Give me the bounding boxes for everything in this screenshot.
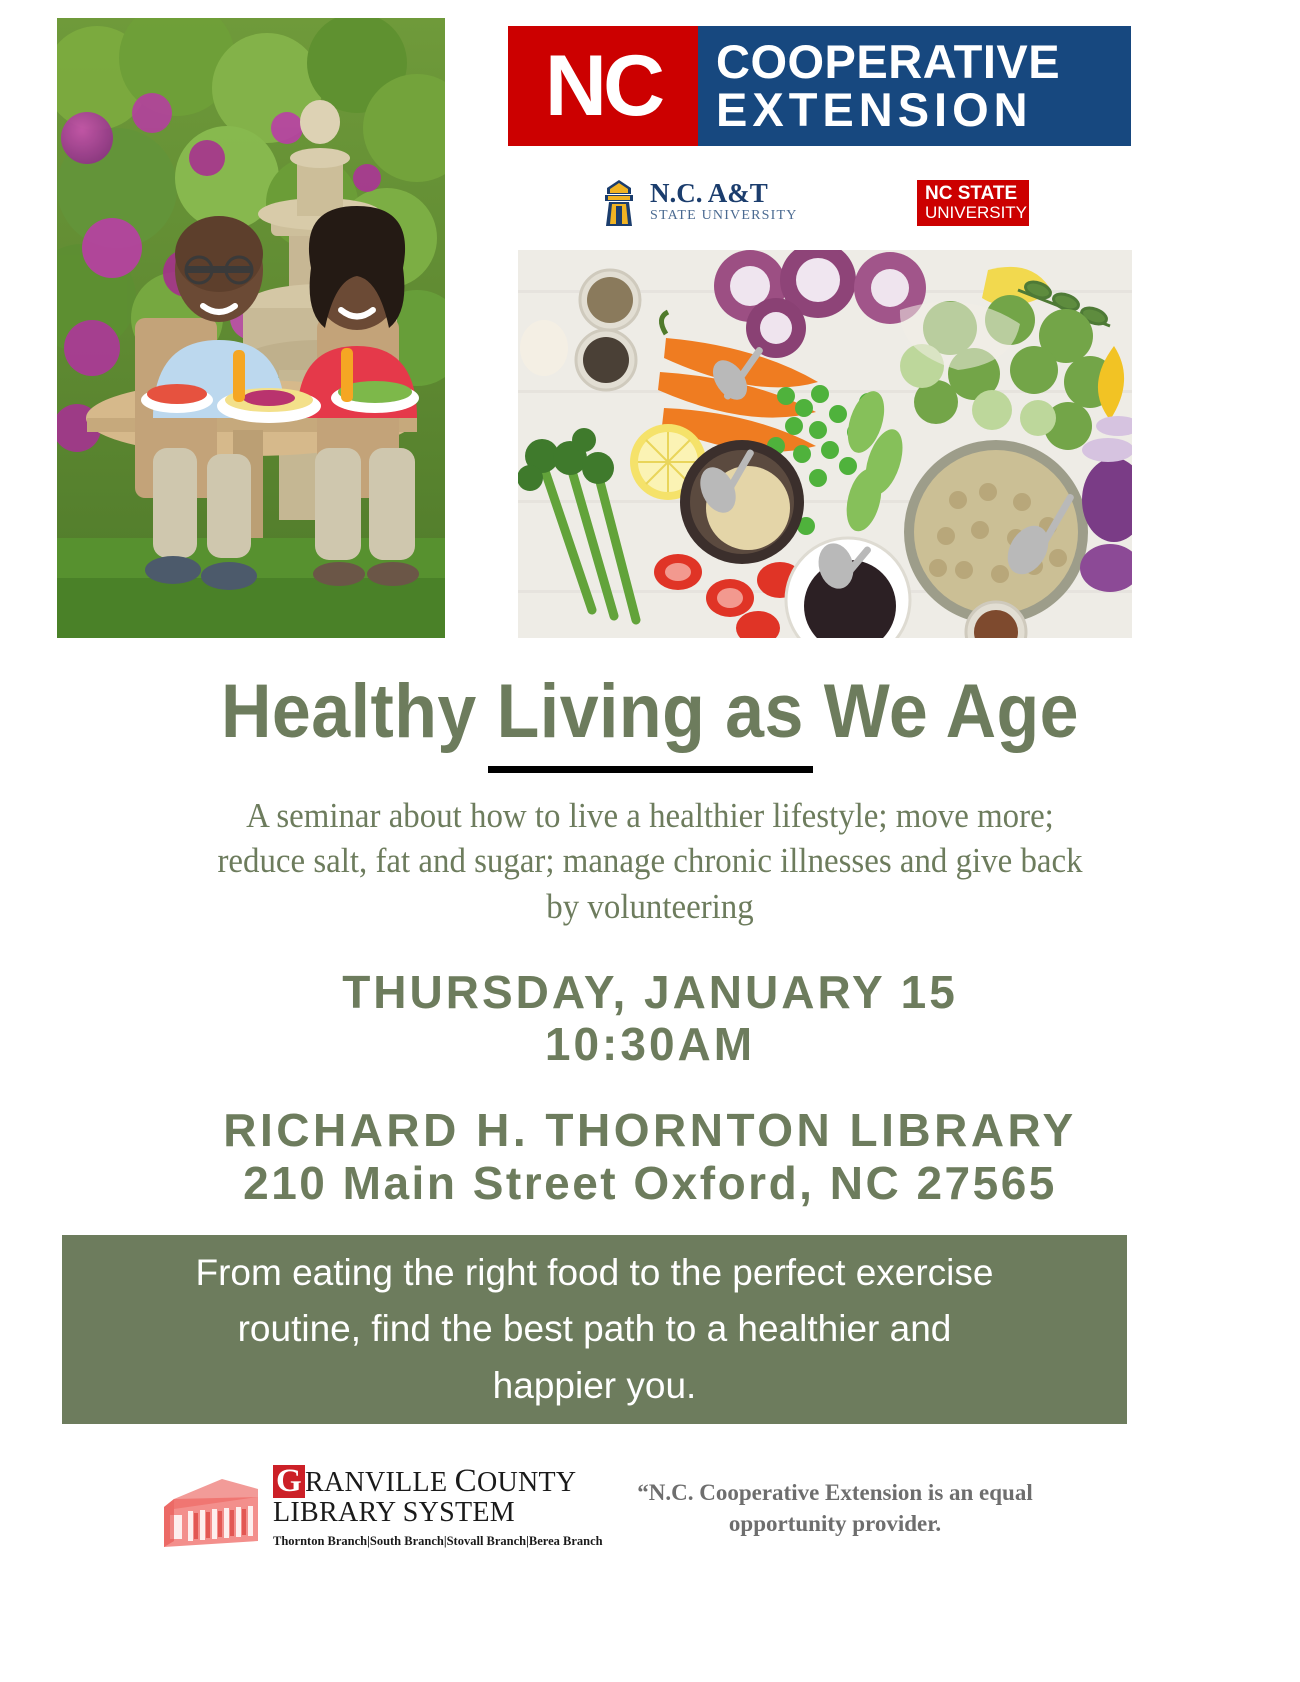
footer: GRANVILLE COUNTY LIBRARY SYSTEM Thornton… xyxy=(0,1455,1300,1595)
nc-logo-mark-text: NC xyxy=(545,43,661,129)
nc-logo-mark: NC xyxy=(508,26,698,146)
event-time: 10:30AM xyxy=(0,1019,1300,1071)
library-line2: LIBRARY SYSTEM xyxy=(273,1498,603,1529)
page-title: Healthy Living as We Age xyxy=(52,672,1248,752)
nc-at-name: N.C. A&T xyxy=(650,180,798,207)
nc-at-wordmark: N.C. A&T STATE UNIVERSITY xyxy=(650,180,798,225)
nc-state-line2: UNIVERSITY xyxy=(925,204,1021,222)
callout-banner: From eating the right food to the perfec… xyxy=(62,1235,1127,1424)
granville-county-library-system-logo: GRANVILLE COUNTY LIBRARY SYSTEM Thornton… xyxy=(160,1465,603,1550)
callout-banner-text: From eating the right food to the perfec… xyxy=(195,1245,995,1414)
library-branches: Thornton Branch|South Branch|Stovall Bra… xyxy=(273,1533,603,1551)
library-logo-g-badge: G xyxy=(273,1465,305,1498)
title-underline-rule xyxy=(488,766,813,773)
vegetables-photo xyxy=(518,250,1132,638)
library-line2-ystem: YSTEM xyxy=(419,1497,515,1528)
library-line2-ibrary: IBRARY xyxy=(290,1497,402,1528)
library-line2-l: L xyxy=(273,1497,290,1528)
nc-logo-line-extension: EXTENSION xyxy=(716,86,1117,134)
event-venue: RICHARD H. THORNTON LIBRARY xyxy=(0,1104,1300,1157)
equal-opportunity-disclaimer: “N.C. Cooperative Extension is an equal … xyxy=(585,1477,1085,1539)
seminar-description: A seminar about how to live a healthier … xyxy=(204,793,1097,930)
couple-photo xyxy=(57,18,445,638)
nc-logo-wordmark: COOPERATIVE EXTENSION xyxy=(698,26,1131,146)
library-line1-county: OUNTY xyxy=(477,1467,577,1498)
event-details: THURSDAY, JANUARY 15 10:30AM RICHARD H. … xyxy=(0,967,1300,1210)
library-line2-s: S xyxy=(403,1497,419,1528)
nc-state-university-logo: NC STATE UNIVERSITY xyxy=(917,180,1029,226)
header-media-row: NC COOPERATIVE EXTENSION N.C. A&T STATE … xyxy=(0,0,1300,660)
nc-cooperative-extension-logo: NC COOPERATIVE EXTENSION xyxy=(508,26,1131,146)
library-line1-rest: RANVILLE xyxy=(305,1467,455,1498)
library-wordmark: GRANVILLE COUNTY LIBRARY SYSTEM Thornton… xyxy=(273,1465,603,1550)
library-line1-c: C xyxy=(455,1463,477,1499)
title-block: Healthy Living as We Age xyxy=(0,672,1300,773)
nc-logo-line-cooperative: COOPERATIVE xyxy=(716,38,1117,86)
library-building-icon xyxy=(160,1467,265,1549)
event-address: 210 Main Street Oxford, NC 27565 xyxy=(0,1157,1300,1210)
aggie-bell-tower-icon xyxy=(598,178,640,228)
library-line1: GRANVILLE COUNTY xyxy=(273,1465,603,1498)
nc-at-state-university-logo: N.C. A&T STATE UNIVERSITY xyxy=(598,178,798,228)
nc-at-subtitle: STATE UNIVERSITY xyxy=(650,207,798,225)
event-date: THURSDAY, JANUARY 15 xyxy=(0,967,1300,1019)
nc-state-line1: NC STATE xyxy=(925,184,1021,203)
